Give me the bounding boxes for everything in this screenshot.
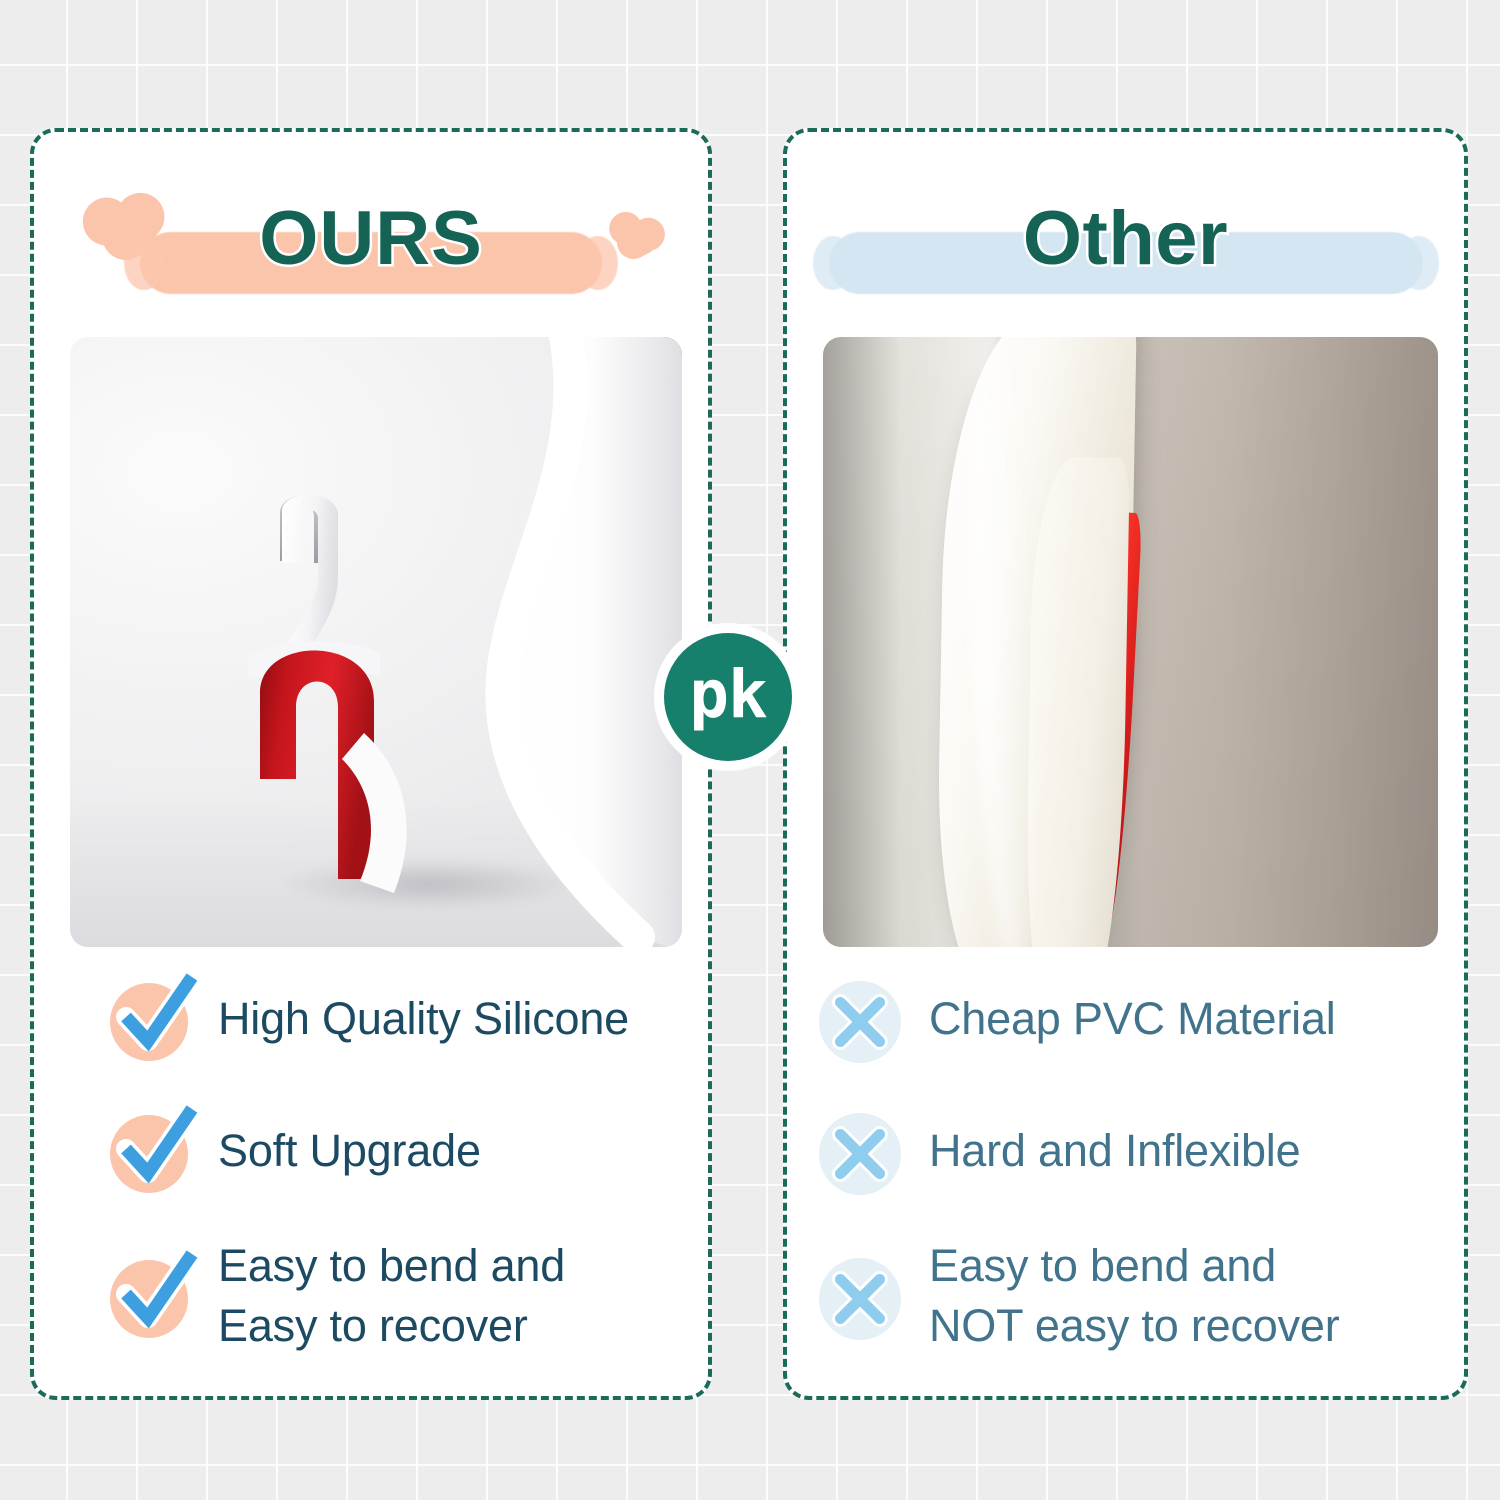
feature-label: Hard and Inflexible (929, 1121, 1300, 1181)
ours-product-image (70, 337, 682, 947)
ours-title: OURS (34, 196, 708, 282)
check-icon (104, 1248, 200, 1344)
x-icon (815, 1248, 911, 1344)
feature-label: Easy to bend and Easy to recover (218, 1236, 565, 1356)
white-pvc-strip-front (1024, 456, 1130, 947)
curled-strip-detail (230, 477, 590, 917)
feature-item: Hard and Inflexible (815, 1099, 1448, 1203)
feature-label: Cheap PVC Material (929, 989, 1336, 1049)
feature-item: Easy to bend and NOT easy to recover (815, 1231, 1448, 1361)
feature-label: Easy to bend and NOT easy to recover (929, 1236, 1340, 1356)
pk-label: pk (689, 662, 766, 728)
check-icon (104, 971, 200, 1067)
feature-label: High Quality Silicone (218, 989, 629, 1049)
pk-versus-badge: pk (664, 633, 792, 761)
wall-shadow (823, 337, 901, 947)
check-icon (104, 1103, 200, 1199)
ours-feature-list: High Quality Silicone Soft Upgrade (104, 967, 682, 1389)
feature-label: Soft Upgrade (218, 1121, 481, 1181)
other-title: Other (787, 196, 1464, 282)
other-product-image (823, 337, 1438, 947)
other-feature-list: Cheap PVC Material Hard and Inflexible (815, 967, 1448, 1389)
feature-item: Cheap PVC Material (815, 967, 1448, 1071)
comparison-infographic: OURS (0, 0, 1500, 1500)
x-icon (815, 971, 911, 1067)
pvc-tape-photo (823, 337, 1438, 947)
feature-item: Easy to bend and Easy to recover (104, 1231, 682, 1361)
feature-item: High Quality Silicone (104, 967, 682, 1071)
ours-card: OURS (30, 128, 712, 1400)
ours-header: OURS (34, 170, 708, 320)
other-card: Other (783, 128, 1468, 1400)
feature-item: Soft Upgrade (104, 1099, 682, 1203)
silicone-strip-render (70, 337, 682, 947)
other-header: Other (787, 170, 1464, 320)
x-icon (815, 1103, 911, 1199)
